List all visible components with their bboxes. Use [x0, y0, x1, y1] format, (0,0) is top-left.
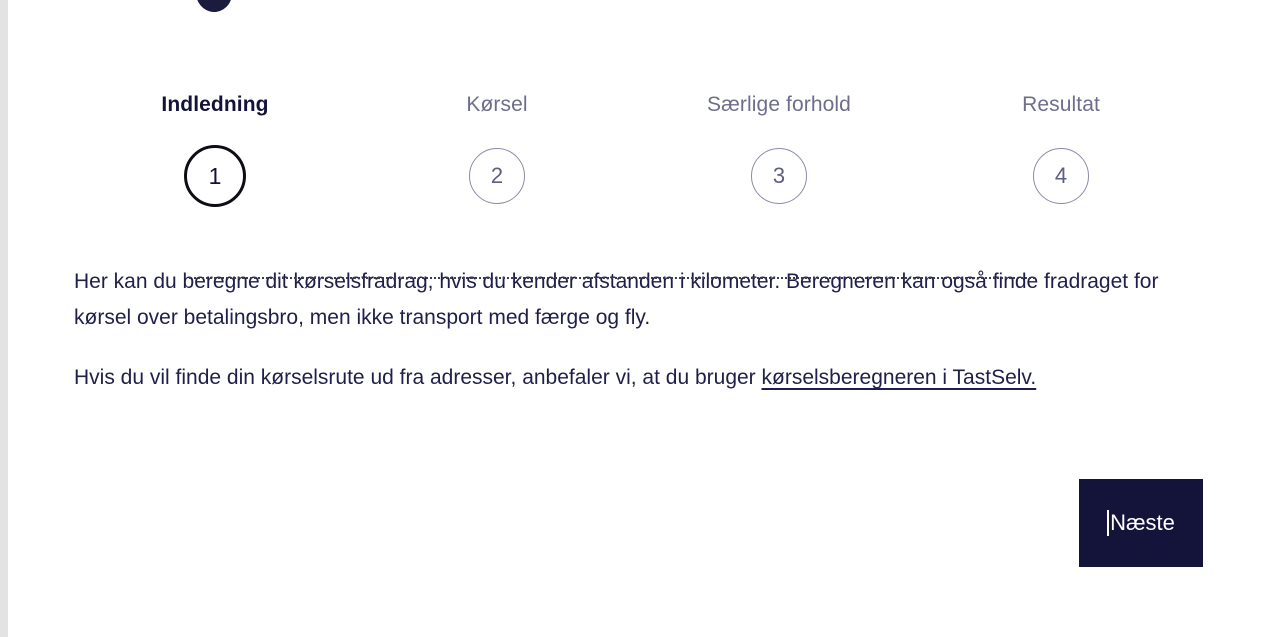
stepper-step-label: Særlige forhold	[664, 92, 894, 118]
stepper-step-saerlige-forhold[interactable]: Særlige forhold 3	[664, 92, 894, 204]
stepper-step-indledning[interactable]: Indledning 1	[100, 92, 330, 207]
stepper-connector-3-4	[753, 277, 1035, 279]
progress-stepper: Indledning 1 Kørsel 2 Særlige forhold 3 …	[74, 92, 1194, 222]
stepper-connector-1-2	[189, 277, 472, 279]
intro-paragraph-2: Hvis du vil finde din kørselsrute ud fra…	[74, 360, 1164, 396]
stepper-step-number: 1	[184, 145, 246, 207]
stepper-step-koersel[interactable]: Kørsel 2	[382, 92, 612, 204]
stepper-connector-2-3	[471, 277, 753, 279]
brand-logo-icon	[196, 0, 232, 12]
stepper-step-label: Resultat	[946, 92, 1176, 118]
next-button-label: Næste	[1110, 510, 1175, 536]
intro-content: Her kan du beregne dit kørselsfradrag, h…	[74, 264, 1184, 396]
next-button[interactable]: Næste	[1079, 479, 1203, 567]
stepper-step-label: Indledning	[100, 92, 330, 118]
stepper-step-number: 2	[469, 148, 525, 204]
stepper-step-number: 4	[1033, 148, 1089, 204]
tastselv-calculator-link[interactable]: kørselsberegneren i TastSelv.	[762, 366, 1037, 389]
stepper-step-resultat[interactable]: Resultat 4	[946, 92, 1176, 204]
logo-glyph-shape	[196, 0, 232, 12]
page-left-gutter	[0, 0, 8, 637]
text-cursor-icon	[1107, 510, 1109, 536]
stepper-step-number: 3	[751, 148, 807, 204]
stepper-step-label: Kørsel	[382, 92, 612, 118]
intro-paragraph-2-text: Hvis du vil finde din kørselsrute ud fra…	[74, 366, 762, 389]
intro-paragraph-1: Her kan du beregne dit kørselsfradrag, h…	[74, 264, 1164, 336]
